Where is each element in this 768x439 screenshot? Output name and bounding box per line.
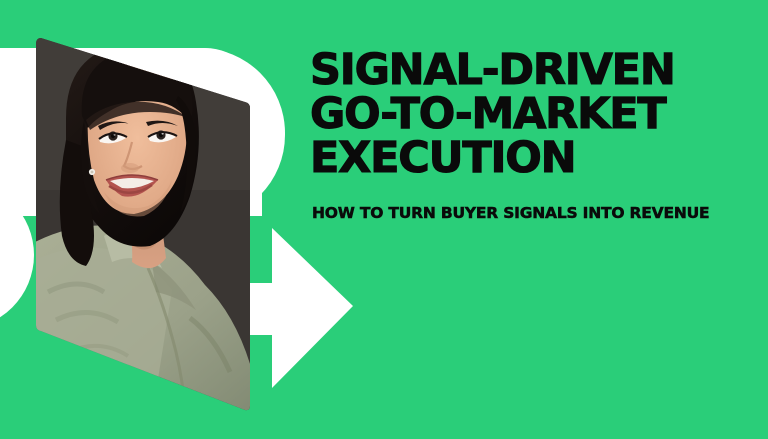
poster-canvas: SIGNAL-DRIVEN GO-TO-MARKET EXECUTION HOW… xyxy=(0,0,768,439)
page-subtitle: HOW TO TURN BUYER SIGNALS INTO REVENUE xyxy=(312,203,709,223)
page-title: SIGNAL-DRIVEN GO-TO-MARKET EXECUTION xyxy=(310,48,730,180)
right-arrow-shape xyxy=(236,228,353,388)
rounded-band-bulge xyxy=(150,48,285,220)
headline-line-2: GO-TO-MARKET xyxy=(310,92,730,136)
headline-line-3: EXECUTION xyxy=(310,136,730,180)
text-block: SIGNAL-DRIVEN GO-TO-MARKET EXECUTION HOW… xyxy=(310,48,730,180)
headline-line-1: SIGNAL-DRIVEN xyxy=(310,48,730,92)
